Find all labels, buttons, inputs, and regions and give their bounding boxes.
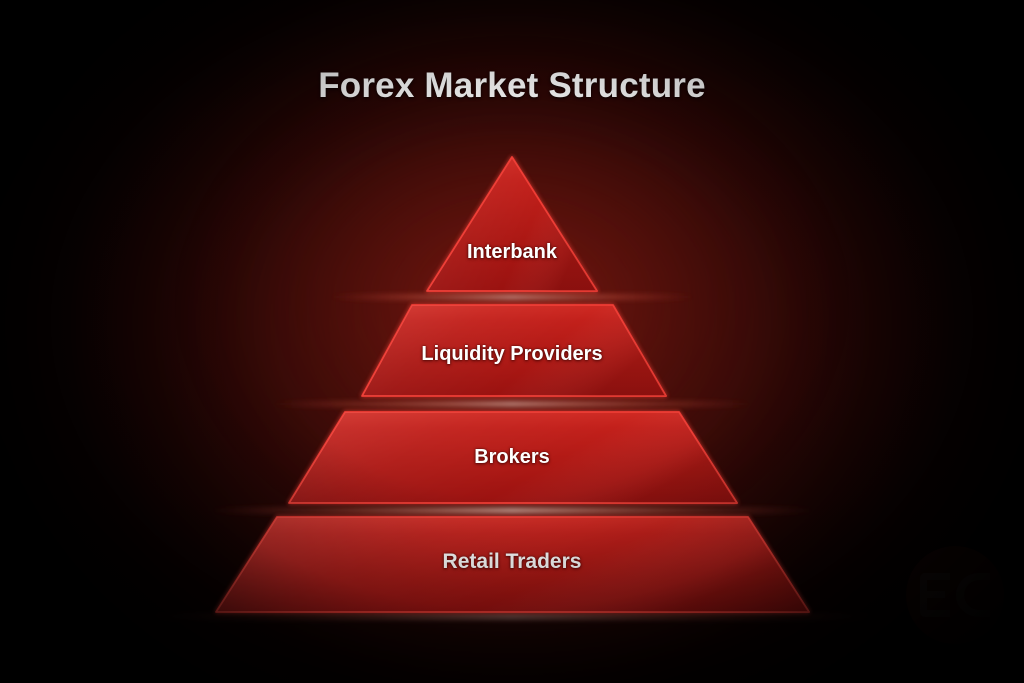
pyramid-level-retail-traders[interactable] — [216, 517, 809, 612]
pyramid-level-liquidity-providers[interactable] — [362, 305, 666, 396]
pyramid-level-interbank[interactable] — [427, 157, 597, 291]
watermark-logo — [906, 546, 1004, 644]
page-title: Forex Market Structure — [0, 66, 1024, 106]
pyramid-level-brokers[interactable] — [289, 412, 737, 503]
ec-monogram-icon — [917, 570, 993, 620]
slide-canvas: Forex Market Structure Interbank Liquidi… — [0, 0, 1024, 683]
